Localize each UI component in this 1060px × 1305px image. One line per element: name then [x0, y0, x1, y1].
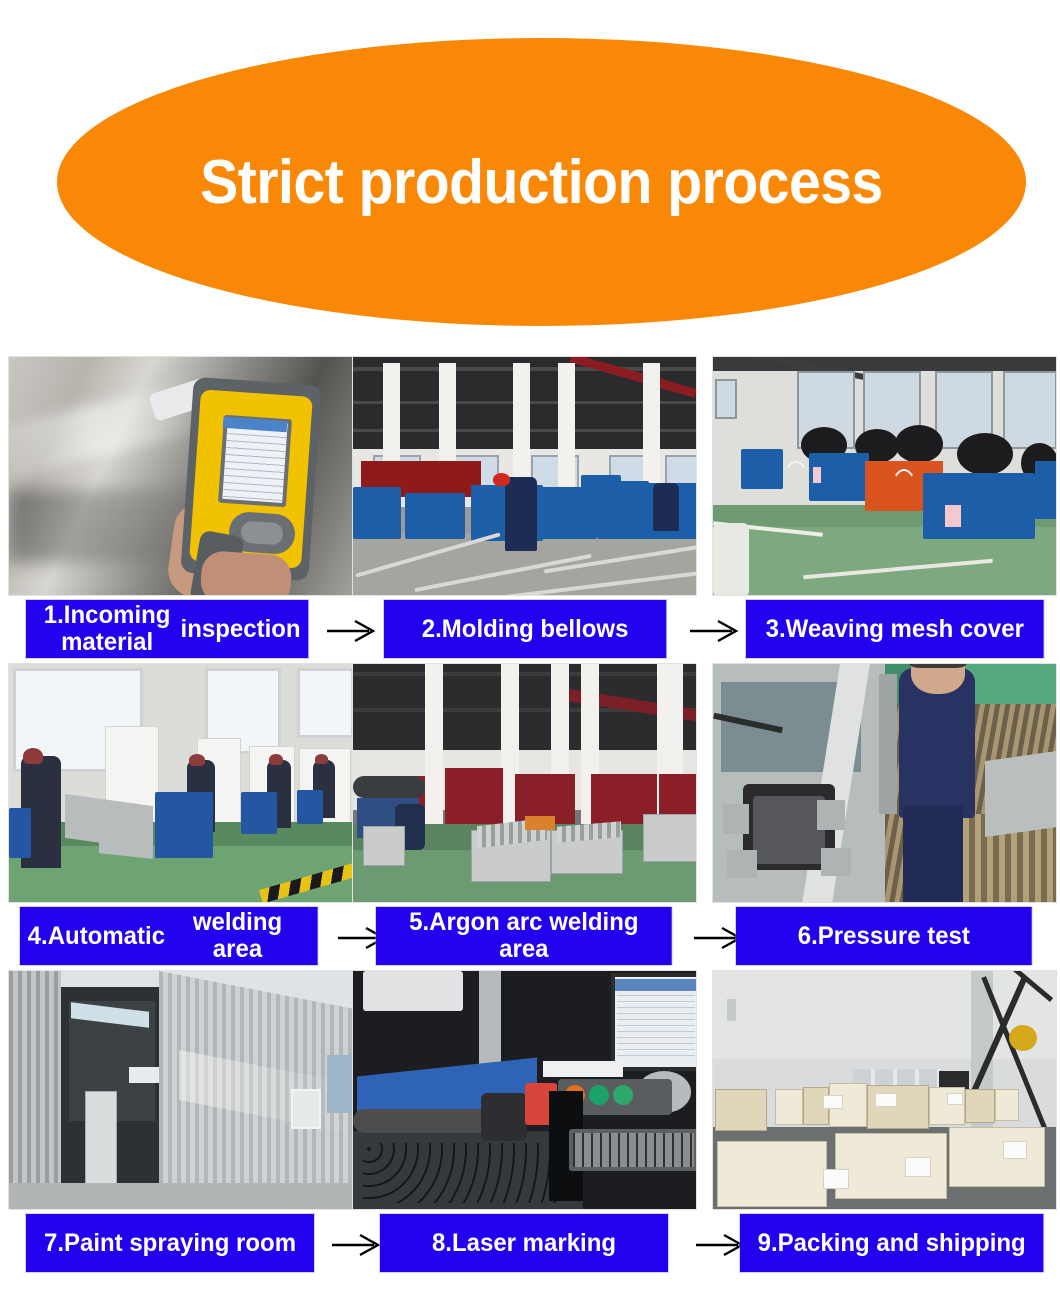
step-label-1: 1.Incoming materialinspection: [26, 600, 308, 658]
photo-laser-marking: [352, 970, 697, 1210]
step-label-9: 9.Packing and shipping: [740, 1214, 1043, 1272]
process-step-4[interactable]: 4.Automaticwelding area: [8, 663, 353, 903]
process-step-8[interactable]: 8.Laser marking: [352, 970, 697, 1210]
process-step-5[interactable]: 5.Argon arc welding area: [352, 663, 697, 903]
page-title: Strict production process: [96, 38, 987, 326]
process-grid: 1.Incoming materialinspection: [0, 356, 1060, 1277]
photo-molding-bellows: [352, 356, 697, 596]
step-label-7: 7.Paint spraying room: [26, 1214, 314, 1272]
process-step-7[interactable]: 7.Paint spraying room: [8, 970, 353, 1210]
arrow-right-icon: [325, 618, 379, 644]
process-step-9[interactable]: 9.Packing and shipping: [712, 970, 1057, 1210]
photo-weaving-mesh-cover: [712, 356, 1057, 596]
photo-packing-and-shipping: [712, 970, 1057, 1210]
step-label-4: 4.Automaticwelding area: [20, 907, 318, 965]
step-label-2: 2.Molding bellows: [384, 600, 666, 658]
process-step-3[interactable]: 3.Weaving mesh cover: [712, 356, 1057, 596]
arrow-right-icon: [330, 1232, 384, 1258]
process-row-1: 1.Incoming materialinspection: [0, 356, 1060, 663]
process-step-6[interactable]: 6.Pressure test: [712, 663, 1057, 903]
process-step-1[interactable]: 1.Incoming materialinspection: [8, 356, 353, 596]
process-row-2: 4.Automaticwelding area: [0, 663, 1060, 970]
arrow-right-icon: [688, 618, 742, 644]
production-process-infographic: Strict production process 1.Incoming mat…: [0, 0, 1060, 1305]
step-label-5: 5.Argon arc welding area: [376, 907, 672, 965]
step-label-6: 6.Pressure test: [736, 907, 1032, 965]
photo-incoming-material-inspection: [8, 356, 353, 596]
photo-argon-arc-welding-area: [352, 663, 697, 903]
photo-paint-spraying-room: [8, 970, 353, 1210]
process-row-3: 7.Paint spraying room: [0, 970, 1060, 1277]
photo-pressure-test: [712, 663, 1057, 903]
process-step-2[interactable]: 2.Molding bellows: [352, 356, 697, 596]
banner: Strict production process: [57, 38, 1026, 326]
photo-automatic-welding-area: [8, 663, 353, 903]
step-label-8: 8.Laser marking: [380, 1214, 668, 1272]
step-label-3: 3.Weaving mesh cover: [746, 600, 1044, 658]
